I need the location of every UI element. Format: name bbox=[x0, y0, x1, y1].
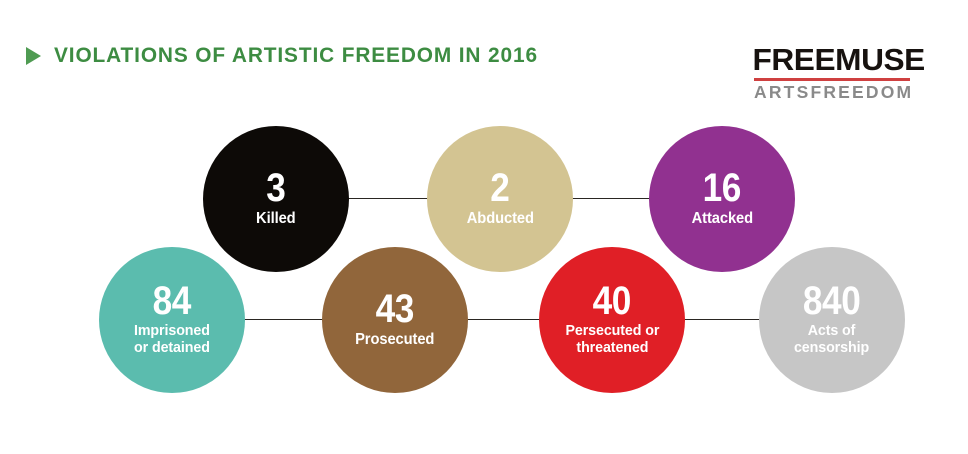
bubble-label-line1: Killed bbox=[256, 210, 296, 227]
bubble-value: 43 bbox=[376, 291, 414, 328]
connector-prosecuted-persecuted bbox=[462, 319, 550, 320]
bubble-label-line2: or detained bbox=[134, 340, 210, 357]
bubble-label-line1: Attacked bbox=[691, 210, 752, 227]
logo-secondary-text: ARTSFREEDOM bbox=[754, 84, 910, 102]
bubble-label: Acts of censorship bbox=[794, 323, 869, 357]
logo-primary-text: FREEMUSE bbox=[752, 44, 911, 75]
bubble-persecuted[interactable]: 40 Persecuted or threatened bbox=[539, 247, 685, 393]
bubble-label: Abducted bbox=[466, 210, 533, 227]
triangle-right-icon bbox=[26, 47, 41, 65]
connector-persecuted-censorship bbox=[678, 319, 766, 320]
title-row: VIOLATIONS OF ARTISTIC FREEDOM IN 2016 bbox=[26, 45, 553, 67]
bubble-label: Attacked bbox=[691, 210, 752, 227]
bubble-value: 84 bbox=[153, 283, 191, 320]
bubble-value: 840 bbox=[803, 283, 860, 320]
header: VIOLATIONS OF ARTISTIC FREEDOM IN 2016 F… bbox=[0, 0, 968, 120]
infographic-canvas: VIOLATIONS OF ARTISTIC FREEDOM IN 2016 F… bbox=[0, 0, 968, 454]
page-title: VIOLATIONS OF ARTISTIC FREEDOM IN 2016 bbox=[54, 45, 538, 67]
bubble-label-line1: Abducted bbox=[466, 210, 533, 227]
logo-divider-rule bbox=[754, 78, 910, 81]
bubble-label-line1: Imprisoned bbox=[134, 323, 210, 340]
bubble-value: 16 bbox=[703, 170, 741, 207]
connector-imprisoned-prosecuted bbox=[240, 319, 328, 320]
bubble-value: 3 bbox=[266, 170, 285, 207]
bubble-imprisoned[interactable]: 84 Imprisoned or detained bbox=[99, 247, 245, 393]
bubble-prosecuted[interactable]: 43 Prosecuted bbox=[322, 247, 468, 393]
bubble-label: Imprisoned or detained bbox=[134, 323, 210, 357]
bubble-label-line2: threatened bbox=[565, 340, 659, 357]
bubble-killed[interactable]: 3 Killed bbox=[203, 126, 349, 272]
bubble-label: Prosecuted bbox=[355, 331, 434, 348]
bubble-label-line2: censorship bbox=[794, 340, 869, 357]
bubble-label: Killed bbox=[256, 210, 296, 227]
bubble-label-line1: Persecuted or bbox=[565, 323, 659, 340]
bubble-abducted[interactable]: 2 Abducted bbox=[427, 126, 573, 272]
bubble-censorship[interactable]: 840 Acts of censorship bbox=[759, 247, 905, 393]
bubble-label-line1: Prosecuted bbox=[355, 331, 434, 348]
bubble-label-line1: Acts of bbox=[794, 323, 869, 340]
bubble-label: Persecuted or threatened bbox=[565, 323, 659, 357]
bubble-attacked[interactable]: 16 Attacked bbox=[649, 126, 795, 272]
bubble-value: 2 bbox=[490, 170, 509, 207]
connector-abducted-attacked bbox=[567, 198, 657, 199]
connector-killed-abducted bbox=[344, 198, 434, 199]
bubble-value: 40 bbox=[593, 283, 631, 320]
freemuse-logo: FREEMUSE ARTSFREEDOM bbox=[754, 44, 910, 102]
